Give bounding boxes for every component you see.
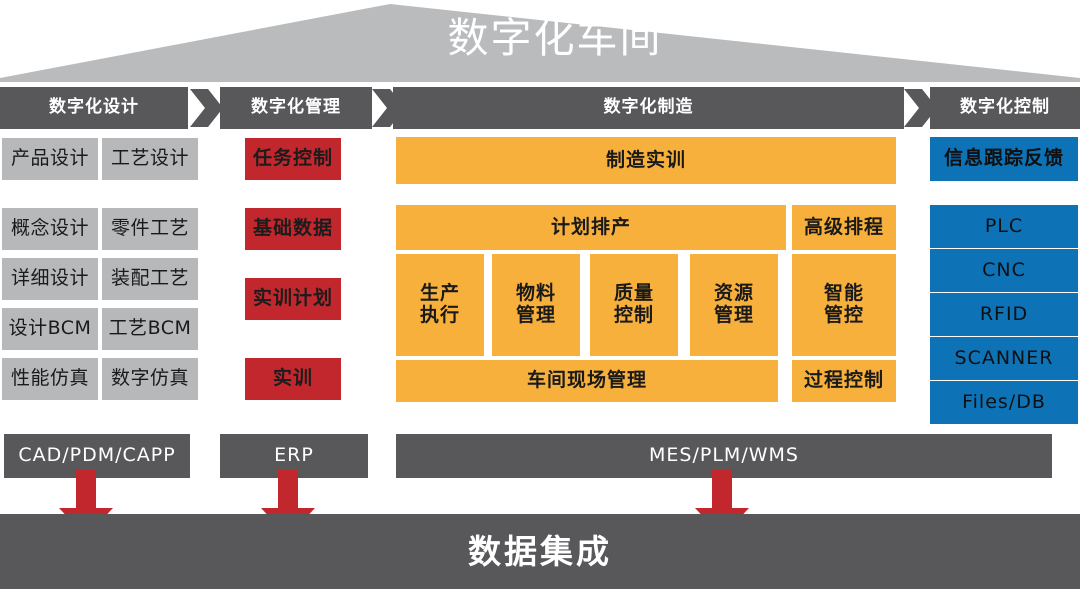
page-title: 数字化车间 — [0, 10, 1080, 66]
control-cell-rfid[interactable]: RFID — [930, 293, 1078, 336]
roof-banner: 数字化车间 — [0, 0, 1080, 82]
manufacturing-cell-advanced-scheduling[interactable]: 高级排程 — [792, 205, 896, 250]
design-cell-product-design[interactable]: 产品设计 — [2, 138, 98, 180]
design-cell-process-design[interactable]: 工艺设计 — [102, 138, 198, 180]
manufacturing-cell-resource-management[interactable]: 资源 管理 — [690, 254, 778, 356]
management-cell-training[interactable]: 实训 — [245, 358, 341, 400]
control-cell-scanner[interactable]: SCANNER — [930, 337, 1078, 380]
header-digital-manufacturing[interactable]: 数字化制造 — [393, 87, 904, 129]
header-digital-design[interactable]: 数字化设计 — [0, 87, 188, 129]
chevron-right-icon-1 — [190, 83, 224, 133]
management-cell-training-plan[interactable]: 实训计划 — [245, 278, 341, 320]
manufacturing-cell-production-execution[interactable]: 生产 执行 — [396, 254, 484, 356]
design-cell-assembly-process[interactable]: 装配工艺 — [102, 258, 198, 300]
control-cell-plc[interactable]: PLC — [930, 205, 1078, 248]
header-digital-management[interactable]: 数字化管理 — [220, 87, 372, 129]
manufacturing-cell-process-control[interactable]: 过程控制 — [792, 360, 896, 402]
manufacturing-cell-quality-control[interactable]: 质量 控制 — [590, 254, 678, 356]
control-cell-files-db[interactable]: Files/DB — [930, 381, 1078, 424]
digital-workshop-diagram: 数字化车间 数字化设计 数字化管理 数字化制造 数字化控制 产品设计 工艺设计 … — [0, 0, 1080, 608]
design-cell-part-process[interactable]: 零件工艺 — [102, 208, 198, 250]
management-cell-basic-data[interactable]: 基础数据 — [245, 208, 341, 250]
management-cell-task-control[interactable]: 任务控制 — [245, 138, 341, 180]
header-digital-control[interactable]: 数字化控制 — [930, 87, 1080, 129]
control-cell-cnc[interactable]: CNC — [930, 249, 1078, 292]
design-cell-design-bcm[interactable]: 设计BCM — [2, 308, 98, 350]
footer-data-integration[interactable]: 数据集成 — [0, 514, 1080, 589]
control-cell-info-tracking-feedback[interactable]: 信息跟踪反馈 — [930, 137, 1078, 181]
manufacturing-cell-material-management[interactable]: 物料 管理 — [492, 254, 580, 356]
design-cell-digital-simulation[interactable]: 数字仿真 — [102, 358, 198, 400]
design-cell-concept-design[interactable]: 概念设计 — [2, 208, 98, 250]
design-cell-performance-simulation[interactable]: 性能仿真 — [2, 358, 98, 400]
manufacturing-banner-shopfloor-management[interactable]: 车间现场管理 — [396, 360, 778, 402]
manufacturing-cell-smart-control[interactable]: 智能 管控 — [792, 254, 896, 356]
manufacturing-banner-training[interactable]: 制造实训 — [396, 137, 896, 184]
manufacturing-banner-production-planning[interactable]: 计划排产 — [396, 205, 786, 250]
design-cell-detail-design[interactable]: 详细设计 — [2, 258, 98, 300]
design-cell-process-bcm[interactable]: 工艺BCM — [102, 308, 198, 350]
